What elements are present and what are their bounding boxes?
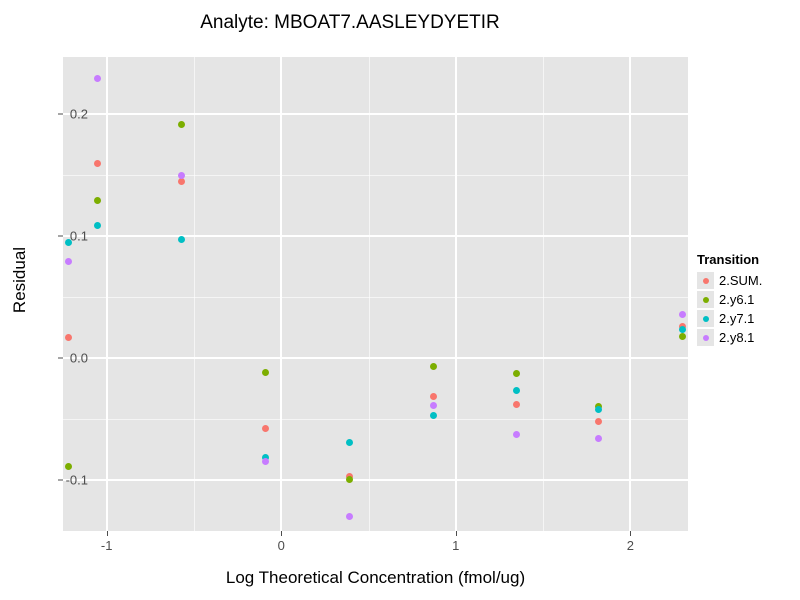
data-point [513, 431, 520, 438]
legend-item: 2.y7.1 [697, 309, 762, 328]
y-axis-tick-label: -0.1 [66, 472, 88, 487]
legend-items: 2.SUM.2.y6.12.y7.12.y8.1 [697, 271, 762, 347]
data-point [430, 412, 437, 419]
data-point [346, 439, 353, 446]
data-point [346, 513, 353, 520]
gridline-major-vertical [629, 57, 631, 531]
data-point [346, 476, 353, 483]
gridline-major-vertical [106, 57, 108, 531]
legend-color-dot [703, 335, 709, 341]
legend-item-label: 2.y6.1 [719, 292, 754, 307]
gridline-major-vertical [280, 57, 282, 531]
legend: Transition 2.SUM.2.y6.12.y7.12.y8.1 [697, 252, 762, 347]
data-point [262, 458, 269, 465]
x-axis-tick-mark [281, 531, 282, 536]
y-axis-tick-label: 0.1 [70, 229, 88, 244]
data-point [595, 406, 602, 413]
page-title: Analyte: MBOAT7.AASLEYDYETIR [0, 12, 700, 34]
data-point [178, 172, 185, 179]
data-point [679, 333, 686, 340]
data-point [513, 401, 520, 408]
y-axis-tick-label: 0.2 [70, 107, 88, 122]
x-axis-tick-label: 0 [278, 538, 285, 553]
data-point [430, 402, 437, 409]
y-axis-tick-label: 0.0 [70, 350, 88, 365]
gridline-major-horizontal [63, 357, 688, 359]
data-point [94, 197, 101, 204]
x-axis-tick-mark [456, 531, 457, 536]
data-point [679, 311, 686, 318]
data-point [513, 387, 520, 394]
y-axis-tick-mark [58, 114, 63, 115]
data-point [262, 425, 269, 432]
data-point [178, 121, 185, 128]
gridline-major-horizontal [63, 235, 688, 237]
legend-item-label: 2.y7.1 [719, 311, 754, 326]
legend-color-dot [703, 278, 709, 284]
data-point [65, 334, 72, 341]
data-point [178, 236, 185, 243]
legend-swatch [697, 272, 714, 289]
legend-swatch [697, 291, 714, 308]
gridline-major-horizontal [63, 479, 688, 481]
legend-item-label: 2.SUM. [719, 273, 762, 288]
legend-swatch [697, 329, 714, 346]
x-axis-tick-label: -1 [101, 538, 113, 553]
data-point [595, 435, 602, 442]
gridline-minor-vertical [194, 57, 195, 531]
y-axis-tick-mark [58, 357, 63, 358]
x-axis-tick-mark [630, 531, 631, 536]
y-axis-title: Residual [10, 220, 30, 340]
legend-color-dot [703, 297, 709, 303]
gridline-minor-horizontal [63, 297, 688, 298]
data-point [178, 178, 185, 185]
x-axis-tick-label: 2 [627, 538, 634, 553]
legend-title: Transition [697, 252, 762, 267]
gridline-major-vertical [455, 57, 457, 531]
gridline-minor-horizontal [63, 175, 688, 176]
x-axis-title: Log Theoretical Concentration (fmol/ug) [63, 568, 688, 588]
legend-item: 2.y6.1 [697, 290, 762, 309]
data-point [430, 363, 437, 370]
plot-panel [63, 57, 688, 531]
x-axis-tick-label: 1 [452, 538, 459, 553]
legend-swatch [697, 310, 714, 327]
data-point [513, 370, 520, 377]
legend-color-dot [703, 316, 709, 322]
x-axis-tick-mark [107, 531, 108, 536]
gridline-minor-vertical [543, 57, 544, 531]
legend-item: 2.SUM. [697, 271, 762, 290]
y-axis-tick-mark [58, 479, 63, 480]
data-point [262, 369, 269, 376]
data-point [65, 258, 72, 265]
gridline-minor-horizontal [63, 419, 688, 420]
data-point [94, 222, 101, 229]
gridline-minor-vertical [369, 57, 370, 531]
legend-item-label: 2.y8.1 [719, 330, 754, 345]
data-point [65, 463, 72, 470]
y-axis-tick-mark [58, 236, 63, 237]
legend-item: 2.y8.1 [697, 328, 762, 347]
gridline-major-horizontal [63, 113, 688, 115]
data-point [94, 160, 101, 167]
scatter-plot-figure: Analyte: MBOAT7.AASLEYDYETIR Residual Lo… [0, 0, 800, 600]
data-point [679, 326, 686, 333]
data-point [595, 418, 602, 425]
data-point [94, 75, 101, 82]
data-point [430, 393, 437, 400]
